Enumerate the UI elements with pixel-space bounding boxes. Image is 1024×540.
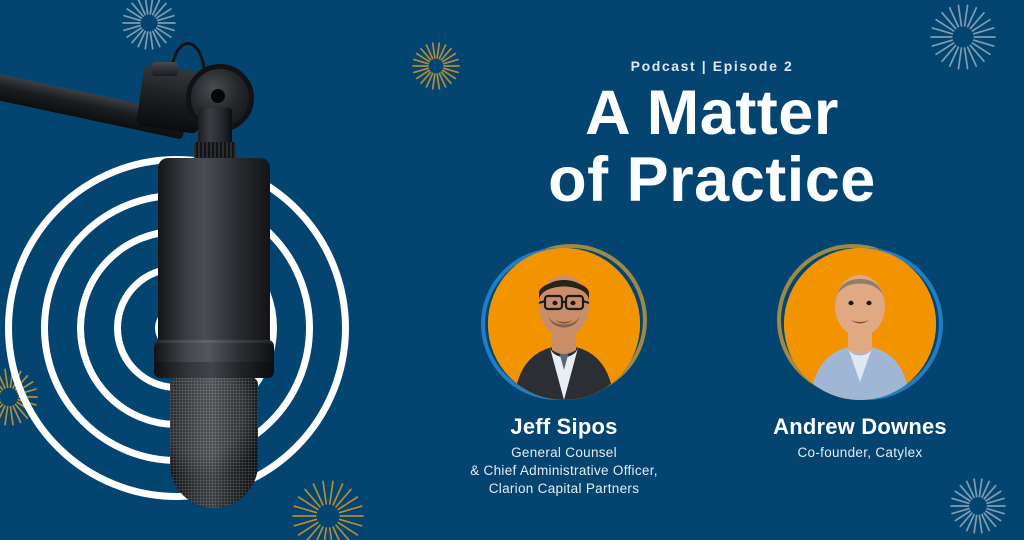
page-title-line-2: of Practice: [400, 147, 1024, 214]
page-title: A Matter of Practice: [400, 80, 1024, 215]
content-column: Podcast | Episode 2 A Matter of Practice…: [400, 0, 1024, 540]
podcast-episode-cover: Podcast | Episode 2 A Matter of Practice…: [0, 0, 1024, 540]
microphone-icon: [0, 0, 400, 540]
guest-list: Jeff SiposGeneral Counsel& Chief Adminis…: [400, 248, 1024, 497]
guest-title-line: Co-founder, Catylex: [740, 444, 980, 462]
microphone-body: [158, 158, 270, 358]
guest-title-line: Clarion Capital Partners: [444, 480, 684, 498]
microphone-band-lower: [154, 362, 274, 378]
guest-card: Jeff SiposGeneral Counsel& Chief Adminis…: [444, 248, 684, 497]
guest-title-line: General Counsel: [444, 444, 684, 462]
page-title-line-1: A Matter: [400, 80, 1024, 147]
microphone-grille: [170, 378, 258, 508]
guest-title: Co-founder, Catylex: [740, 444, 980, 462]
avatar: [488, 248, 640, 400]
episode-eyebrow: Podcast | Episode 2: [400, 58, 1024, 74]
guest-name: Jeff Sipos: [444, 414, 684, 440]
guest-title: General Counsel& Chief Administrative Of…: [444, 444, 684, 497]
guest-name: Andrew Downes: [740, 414, 980, 440]
guest-title-line: & Chief Administrative Officer,: [444, 462, 684, 480]
guest-card: Andrew DownesCo-founder, Catylex: [740, 248, 980, 497]
avatar: [784, 248, 936, 400]
headshot-andrew-downes: [784, 248, 936, 400]
boom-arm-adjust-knob: [152, 62, 178, 76]
headshot-jeff-sipos: [488, 248, 640, 400]
